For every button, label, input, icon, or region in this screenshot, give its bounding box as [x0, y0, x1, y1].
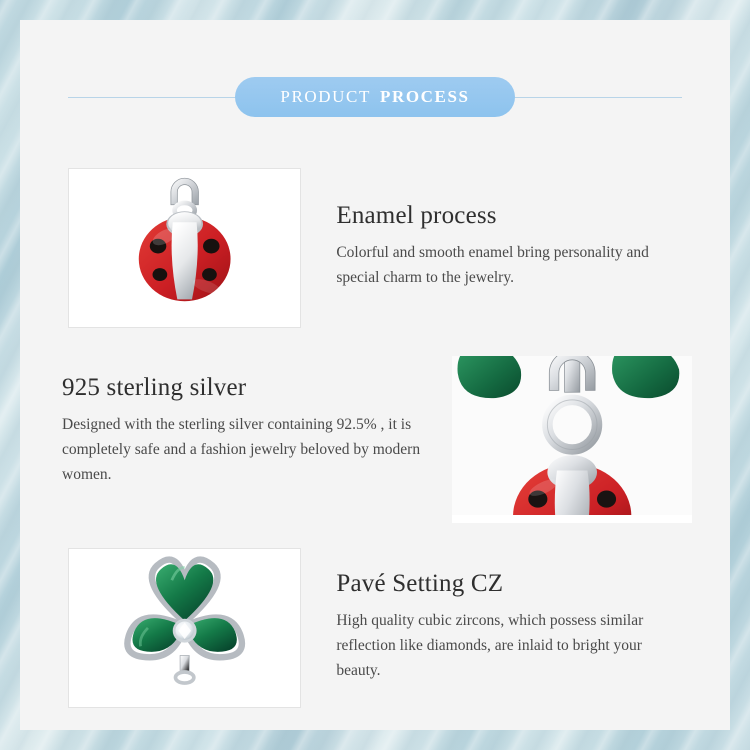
page-background: PRODUCT PROCESS: [0, 0, 750, 750]
feature-row-pave: Pavé Setting CZ High quality cubic zirco…: [68, 548, 688, 708]
feature-title-pave: Pavé Setting CZ: [336, 570, 688, 598]
header-title-pill: PRODUCT PROCESS: [235, 77, 515, 117]
header-rule-right: [492, 97, 682, 98]
ladybug-charm-illustration: [69, 169, 300, 316]
feature-title-silver: 925 sterling silver: [62, 374, 444, 402]
feature-copy-enamel: Enamel process Colorful and smooth ename…: [336, 168, 688, 328]
header-rule-left: [68, 97, 258, 98]
feature-body-enamel: Colorful and smooth enamel bring persona…: [336, 240, 688, 290]
feature-copy-silver: 925 sterling silver Designed with the st…: [62, 356, 444, 523]
clasp-closeup-illustration: [452, 356, 692, 515]
feature-body-silver: Designed with the sterling silver contai…: [62, 412, 444, 487]
clover-charm-photo: [68, 548, 301, 708]
feature-row-enamel: Enamel process Colorful and smooth ename…: [68, 168, 688, 328]
header-title-word-2: PROCESS: [380, 87, 470, 107]
clover-charm-illustration: [69, 549, 300, 696]
feature-body-pave: High quality cubic zircons, which posses…: [336, 608, 688, 683]
feature-copy-pave: Pavé Setting CZ High quality cubic zirco…: [336, 548, 688, 708]
ladybug-charm-photo: [68, 168, 301, 328]
section-header: PRODUCT PROCESS: [20, 65, 730, 125]
feature-row-silver: 925 sterling silver Designed with the st…: [62, 356, 692, 523]
charm-clasp-closeup-photo: [452, 356, 692, 523]
content-panel: PRODUCT PROCESS: [20, 20, 730, 730]
feature-title-enamel: Enamel process: [336, 202, 688, 230]
header-title-word-1: PRODUCT: [280, 87, 371, 107]
